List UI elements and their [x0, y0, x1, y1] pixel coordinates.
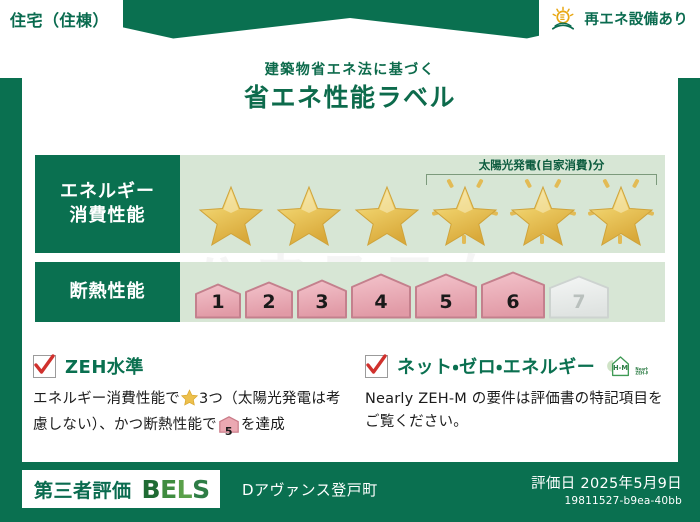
svg-text:H-M: H-M: [613, 364, 628, 372]
insulation-performance-label-box: 断熱性能: [35, 262, 180, 322]
star-2: [270, 173, 348, 249]
house-icon: [296, 279, 348, 319]
insulation-level-1: 1: [194, 283, 242, 319]
evaluation-info: 評価日 2025年5月9日 19811527-b9ea-40bb: [531, 472, 682, 507]
star-icon: [181, 394, 198, 410]
energy-label-line-1: エネルギー: [60, 180, 155, 204]
zeh-standard-block: ZEH水準 エネルギー消費性能で3つ（太陽光発電は考慮しない）、かつ断熱性能で5…: [33, 352, 353, 442]
net-zero-energy-heading: ネット・ゼロ・エネルギー H-M Nearly ZEH-M: [365, 352, 675, 380]
star-icon: [270, 173, 348, 249]
house-icon: [194, 283, 242, 319]
footer: 第三者評価 BELS Dアヴァンス登戸町 評価日 2025年5月9日 19811…: [0, 462, 700, 522]
net-zero-energy-title: ネット・ゼロ・エネルギー: [397, 353, 595, 379]
title-main: 省エネ性能ラベル: [0, 82, 700, 113]
sun-renewable-icon: [549, 6, 577, 32]
star-6: [582, 173, 660, 249]
star-rating: [192, 173, 659, 249]
house-icon: [480, 271, 546, 319]
house-level-number: 5: [219, 423, 239, 441]
energy-performance-label-box: エネルギー 消費性能: [35, 155, 180, 253]
star-icon: [582, 173, 660, 249]
star-3: [348, 173, 426, 249]
solar-bracket-caption: 太陽光発電(自家消費)分: [426, 157, 657, 173]
zeh-standard-checkbox[interactable]: [33, 355, 56, 378]
star-4: [426, 173, 504, 249]
house-icon: [350, 273, 412, 319]
evaluation-id: 19811527-b9ea-40bb: [531, 495, 682, 507]
bels-letter-b: B: [142, 475, 161, 504]
zeh-desc-part-1: エネルギー消費性能で: [33, 391, 180, 407]
insulation-level-7: 7: [548, 275, 610, 319]
title-block: 建築物省エネ法に基づく 省エネ性能ラベル: [0, 62, 700, 113]
evaluation-date: 評価日 2025年5月9日: [531, 472, 682, 493]
insulation-level-6: 6: [480, 271, 546, 319]
bels-badge: 第三者評価 BELS: [22, 470, 220, 508]
house-level-icon: 5: [219, 416, 239, 441]
renewable-equipment-badge: 再エネ設備あり: [539, 0, 700, 37]
insulation-level-scale: 1 2 3: [194, 265, 657, 319]
house-icon: [244, 281, 294, 319]
insulation-label-line-1: 断熱性能: [70, 280, 146, 304]
zeh-standard-description: エネルギー消費性能で3つ（太陽光発電は考慮しない）、かつ断熱性能で5を達成: [33, 388, 353, 442]
svg-text:ZEH-M: ZEH-M: [636, 371, 649, 376]
building-type-badge: 住宅（住棟）: [0, 0, 123, 37]
star-icon: [504, 173, 582, 249]
house-icon: [414, 273, 478, 319]
zeh-standard-heading: ZEH水準: [33, 352, 353, 380]
third-party-evaluation-label: 第三者評価: [34, 476, 132, 503]
insulation-performance-row: 断熱性能 1 2: [35, 262, 665, 322]
nearly-zeh-m-icon: H-M Nearly ZEH-M: [604, 351, 648, 381]
energy-rating-body: 太陽光発電(自家消費)分: [180, 155, 665, 253]
energy-label-line-2: 消費性能: [70, 204, 146, 228]
building-type-label: 住宅（住棟）: [10, 7, 109, 31]
insulation-level-3: 3: [296, 279, 348, 319]
net-zero-energy-description: Nearly ZEH-M の要件は評価書の特記項目をご覧ください。: [365, 388, 675, 435]
star-icon: [426, 173, 504, 249]
building-name: Dアヴァンス登戸町: [242, 479, 378, 500]
zeh-standard-title: ZEH水準: [65, 353, 144, 379]
bels-logo: BELS: [142, 477, 210, 502]
title-subtitle: 建築物省エネ法に基づく: [0, 62, 700, 79]
insulation-rating-body: 1 2 3: [180, 262, 665, 322]
insulation-level-4: 4: [350, 273, 412, 319]
star-1: [192, 173, 270, 249]
net-zero-energy-checkbox[interactable]: [365, 355, 388, 378]
renewable-equipment-label: 再エネ設備あり: [584, 8, 688, 29]
bels-letter-l: L: [177, 475, 192, 504]
insulation-level-2: 2: [244, 281, 294, 319]
energy-performance-label: ハウスコム 住宅（住棟） 再エネ設備あり 建築物省エネ法: [0, 0, 700, 522]
bels-letter-e: E: [160, 475, 177, 504]
bels-letter-s: S: [192, 475, 210, 504]
zeh-desc-part-3: を達成: [241, 417, 285, 433]
star-icon: [348, 173, 426, 249]
star-5: [504, 173, 582, 249]
star-icon: [192, 173, 270, 249]
net-zero-energy-block: ネット・ゼロ・エネルギー H-M Nearly ZEH-M Nearly ZEH…: [365, 352, 675, 435]
house-icon: [548, 275, 610, 319]
insulation-level-5: 5: [414, 273, 478, 319]
energy-performance-row: エネルギー 消費性能 太陽光発電(自家消費)分: [35, 155, 665, 253]
